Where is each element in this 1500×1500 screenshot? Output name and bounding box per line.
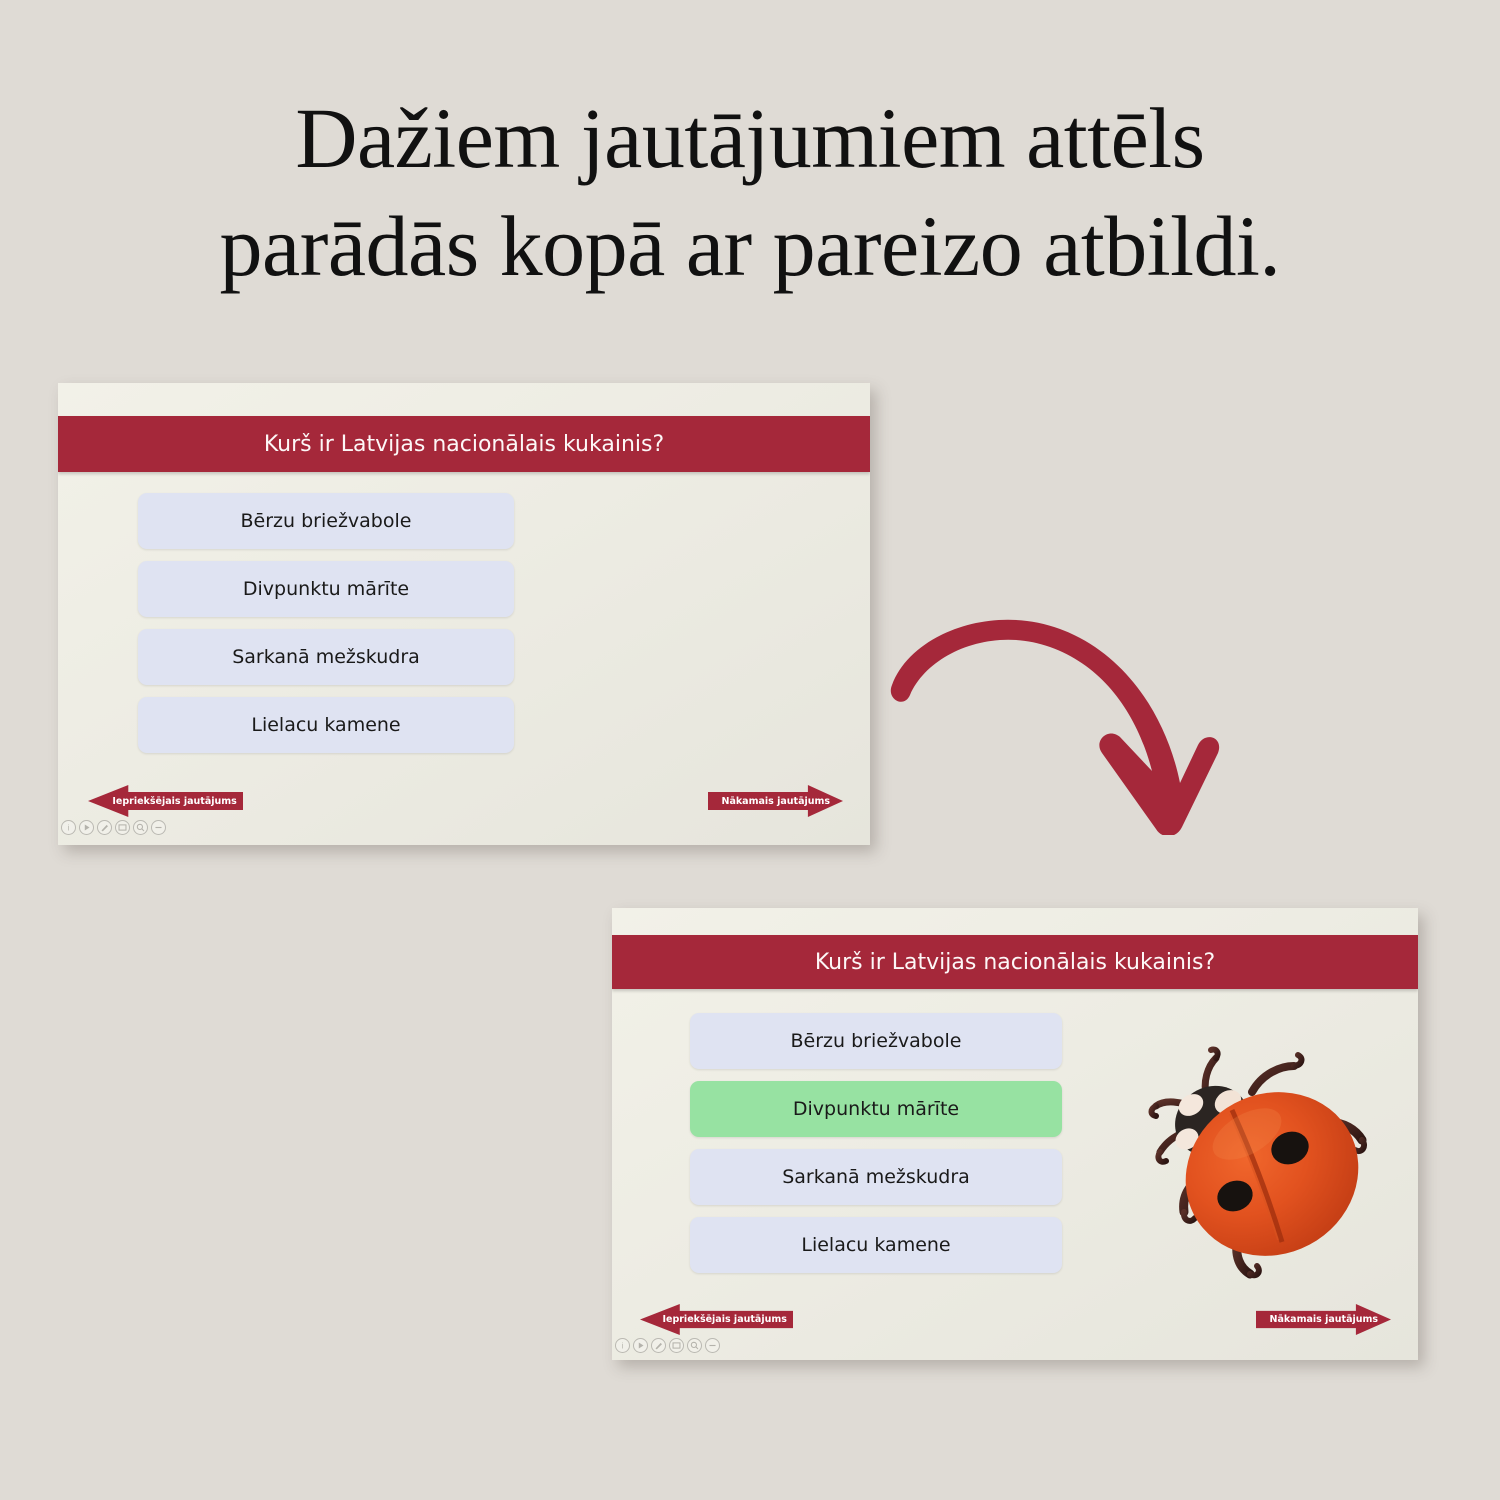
more-icon[interactable] — [705, 1338, 720, 1353]
info-icon[interactable]: i — [61, 820, 76, 835]
answer-option-2[interactable]: Divpunktu mārīte — [690, 1081, 1062, 1137]
next-question-label: Nākamais jautājums — [1256, 1314, 1378, 1325]
answer-option-1[interactable]: Bērzu briežvabole — [690, 1013, 1062, 1069]
slide-minibar[interactable]: i — [615, 1338, 720, 1353]
answer-option-3[interactable]: Sarkanā mežskudra — [690, 1149, 1062, 1205]
answer-option-3-label: Sarkanā mežskudra — [232, 646, 420, 668]
next-question-label: Nākamais jautājums — [708, 796, 830, 807]
page-title: Dažiem jautājumiem attēls parādās kopā a… — [0, 84, 1500, 301]
answer-option-4-label: Lielacu kamene — [251, 714, 400, 736]
answer-option-4[interactable]: Lielacu kamene — [138, 697, 514, 753]
play-icon[interactable] — [79, 820, 94, 835]
page-title-line-1: Dažiem jautājumiem attēls — [0, 84, 1500, 192]
answer-option-1[interactable]: Bērzu briežvabole — [138, 493, 514, 549]
question-slide-unanswered[interactable]: Kurš ir Latvijas nacionālais kukainis? B… — [58, 383, 870, 845]
answer-option-1-label: Bērzu briežvabole — [791, 1030, 962, 1052]
zoom-icon[interactable] — [133, 820, 148, 835]
answer-option-2[interactable]: Divpunktu mārīte — [138, 561, 514, 617]
pen-icon[interactable] — [97, 820, 112, 835]
previous-question-button[interactable]: Iepriekšējais jautājums — [88, 785, 243, 817]
svg-text:i: i — [68, 824, 70, 833]
question-text: Kurš ir Latvijas nacionālais kukainis? — [264, 432, 664, 457]
answer-list: Bērzu briežvabole Divpunktu mārīte Sarka… — [690, 1013, 1062, 1273]
question-banner: Kurš ir Latvijas nacionālais kukainis? — [58, 416, 870, 472]
question-banner: Kurš ir Latvijas nacionālais kukainis? — [612, 935, 1418, 989]
answer-option-4[interactable]: Lielacu kamene — [690, 1217, 1062, 1273]
zoom-icon[interactable] — [687, 1338, 702, 1353]
answer-option-1-label: Bērzu briežvabole — [241, 510, 412, 532]
question-text: Kurš ir Latvijas nacionālais kukainis? — [815, 950, 1215, 975]
next-question-button[interactable]: Nākamais jautājums — [1256, 1304, 1391, 1335]
play-icon[interactable] — [633, 1338, 648, 1353]
answer-list: Bērzu briežvabole Divpunktu mārīte Sarka… — [138, 493, 514, 753]
answer-option-2-label: Divpunktu mārīte — [793, 1098, 959, 1120]
info-icon[interactable]: i — [615, 1338, 630, 1353]
svg-text:i: i — [622, 1342, 624, 1351]
answer-option-3[interactable]: Sarkanā mežskudra — [138, 629, 514, 685]
question-slide-answered[interactable]: Kurš ir Latvijas nacionālais kukainis? B… — [612, 908, 1418, 1360]
answer-option-3-label: Sarkanā mežskudra — [782, 1166, 970, 1188]
next-question-button[interactable]: Nākamais jautājums — [708, 785, 843, 817]
ladybug-photo — [1112, 1026, 1412, 1296]
present-icon[interactable] — [669, 1338, 684, 1353]
answer-option-4-label: Lielacu kamene — [801, 1234, 950, 1256]
slide-minibar[interactable]: i — [61, 820, 166, 835]
page-title-line-2: parādās kopā ar pareizo atbildi. — [0, 192, 1500, 300]
previous-question-button[interactable]: Iepriekšējais jautājums — [640, 1304, 793, 1335]
more-icon[interactable] — [151, 820, 166, 835]
answer-option-2-label: Divpunktu mārīte — [243, 578, 409, 600]
curved-down-arrow-icon — [880, 595, 1220, 840]
pen-icon[interactable] — [651, 1338, 666, 1353]
present-icon[interactable] — [115, 820, 130, 835]
previous-question-label: Iepriekšējais jautājums — [112, 796, 243, 807]
previous-question-label: Iepriekšējais jautājums — [662, 1314, 793, 1325]
